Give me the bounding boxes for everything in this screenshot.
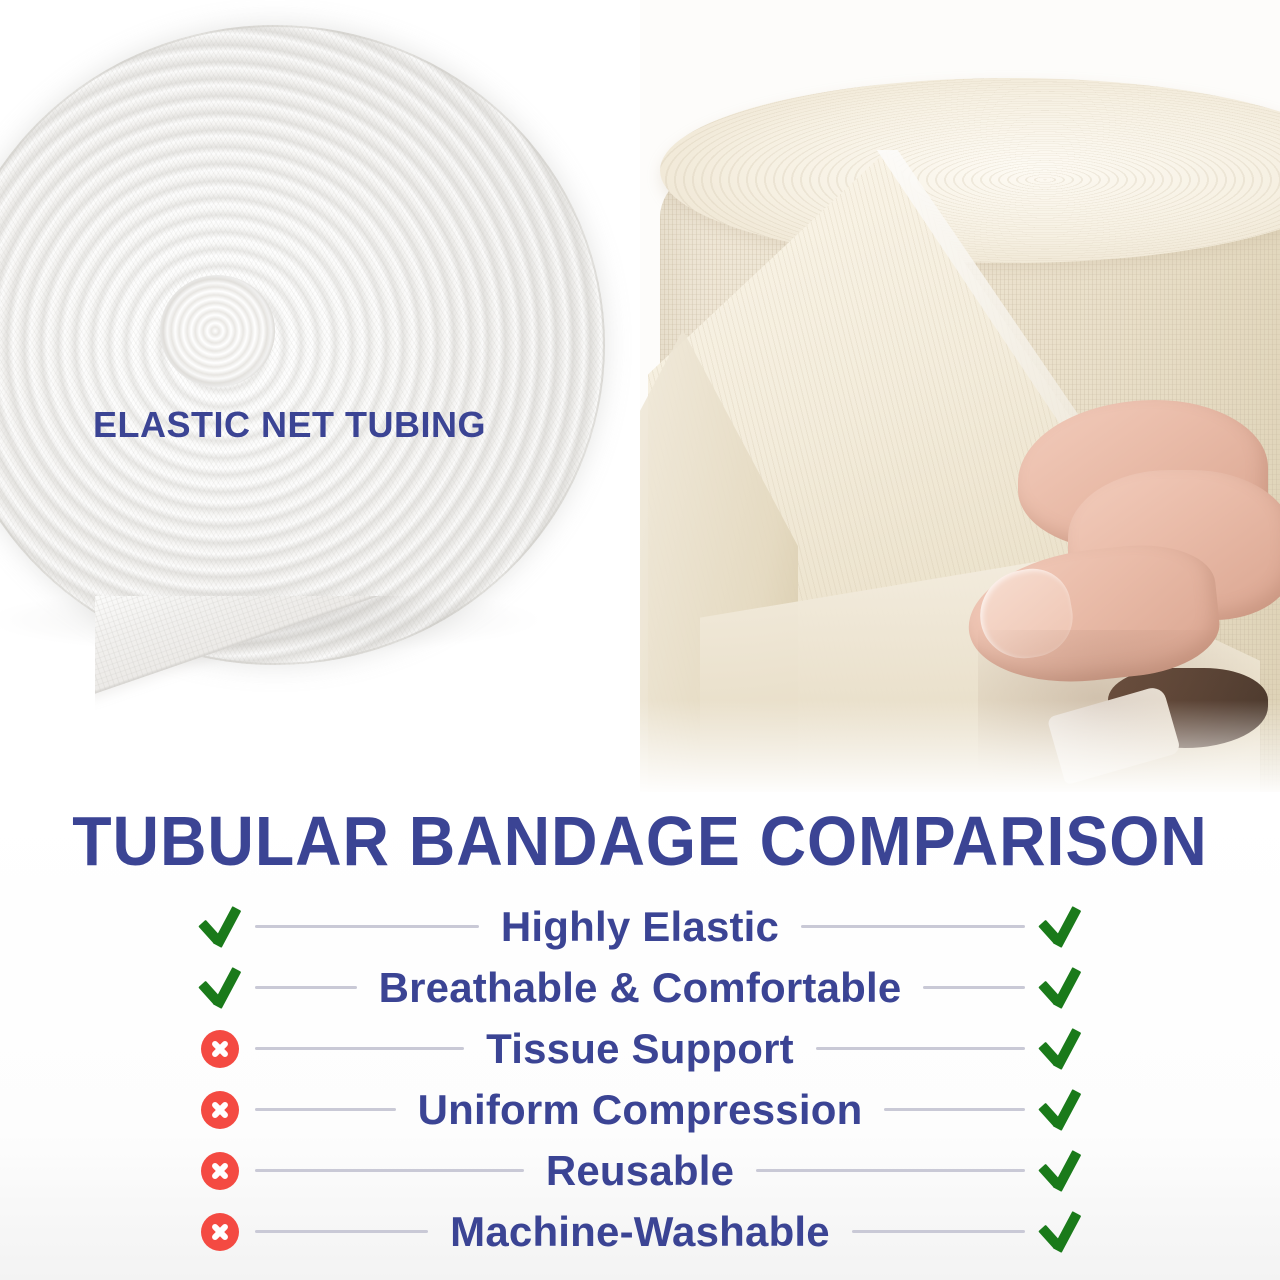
tubing-tail-strip: [95, 596, 615, 786]
cross-icon-left: [185, 1018, 255, 1079]
photo-label-left: ELASTIC NET TUBING: [93, 404, 486, 446]
green-check-icon: [197, 965, 243, 1011]
green-check-icon: [1037, 1087, 1083, 1133]
coiled-tubing-graphic: [0, 25, 640, 665]
coil-outer-edge: [0, 25, 605, 665]
comparison-row: Breathable & Comfortable: [0, 957, 1280, 1018]
connector-line-right: [816, 1047, 1025, 1050]
check-icon-right: [1025, 1018, 1095, 1079]
green-check-icon: [1037, 904, 1083, 950]
red-x-icon: [201, 1030, 239, 1068]
check-icon-right: [1025, 896, 1095, 957]
red-x-icon: [201, 1091, 239, 1129]
connector-line-left: [255, 1230, 428, 1233]
check-icon-right: [1025, 1140, 1095, 1201]
check-icon-right: [1025, 957, 1095, 1018]
connector-line-right: [884, 1108, 1025, 1111]
comparison-row: Machine-Washable: [0, 1201, 1280, 1262]
connector-line-right: [852, 1230, 1025, 1233]
connector-line-left: [255, 1169, 524, 1172]
connector-line-right: [923, 986, 1025, 989]
feature-label: Uniform Compression: [396, 1086, 885, 1134]
green-check-icon: [1037, 1026, 1083, 1072]
comparison-panel: TUBULAR BANDAGE COMPARISON Highly Elasti…: [0, 792, 1280, 1280]
connector-line-right: [756, 1169, 1025, 1172]
comparison-row: Uniform Compression: [0, 1079, 1280, 1140]
comparison-headline: TUBULAR BANDAGE COMPARISON: [51, 806, 1229, 876]
red-x-icon: [201, 1152, 239, 1190]
feature-label: Tissue Support: [464, 1025, 816, 1073]
comparison-rows: Highly ElasticBreathable & ComfortableTi…: [0, 896, 1280, 1262]
feature-label: Highly Elastic: [479, 903, 801, 951]
elastic-support-bandage-photo: ELASTIC SUPPORT BANDAGE: [640, 0, 1280, 792]
feature-label: Breathable & Comfortable: [357, 964, 924, 1012]
green-check-icon: [1037, 1209, 1083, 1255]
connector-line-left: [255, 986, 357, 989]
tail-band: [95, 596, 615, 697]
connector-line-right: [801, 925, 1025, 928]
product-photo-band: ELASTIC NET TUBING ELASTIC SUPPORT BANDA…: [0, 0, 1280, 792]
comparison-row: Highly Elastic: [0, 896, 1280, 957]
green-check-icon: [197, 904, 243, 950]
hand-graphic: [958, 400, 1280, 792]
cross-icon-left: [185, 1201, 255, 1262]
comparison-row: Tissue Support: [0, 1018, 1280, 1079]
connector-line-left: [255, 1108, 396, 1111]
feature-label: Machine-Washable: [428, 1208, 852, 1256]
red-x-icon: [201, 1213, 239, 1251]
check-icon-right: [1025, 1079, 1095, 1140]
green-check-icon: [1037, 1148, 1083, 1194]
green-check-icon: [1037, 965, 1083, 1011]
hand-shadow: [978, 630, 1278, 792]
connector-line-left: [255, 1047, 464, 1050]
connector-line-left: [255, 925, 479, 928]
check-icon-left: [185, 957, 255, 1018]
check-icon-right: [1025, 1201, 1095, 1262]
cross-icon-left: [185, 1079, 255, 1140]
check-icon-left: [185, 896, 255, 957]
feature-label: Reusable: [524, 1147, 756, 1195]
elastic-net-tubing-photo: ELASTIC NET TUBING: [0, 0, 640, 792]
cross-icon-left: [185, 1140, 255, 1201]
comparison-row: Reusable: [0, 1140, 1280, 1201]
